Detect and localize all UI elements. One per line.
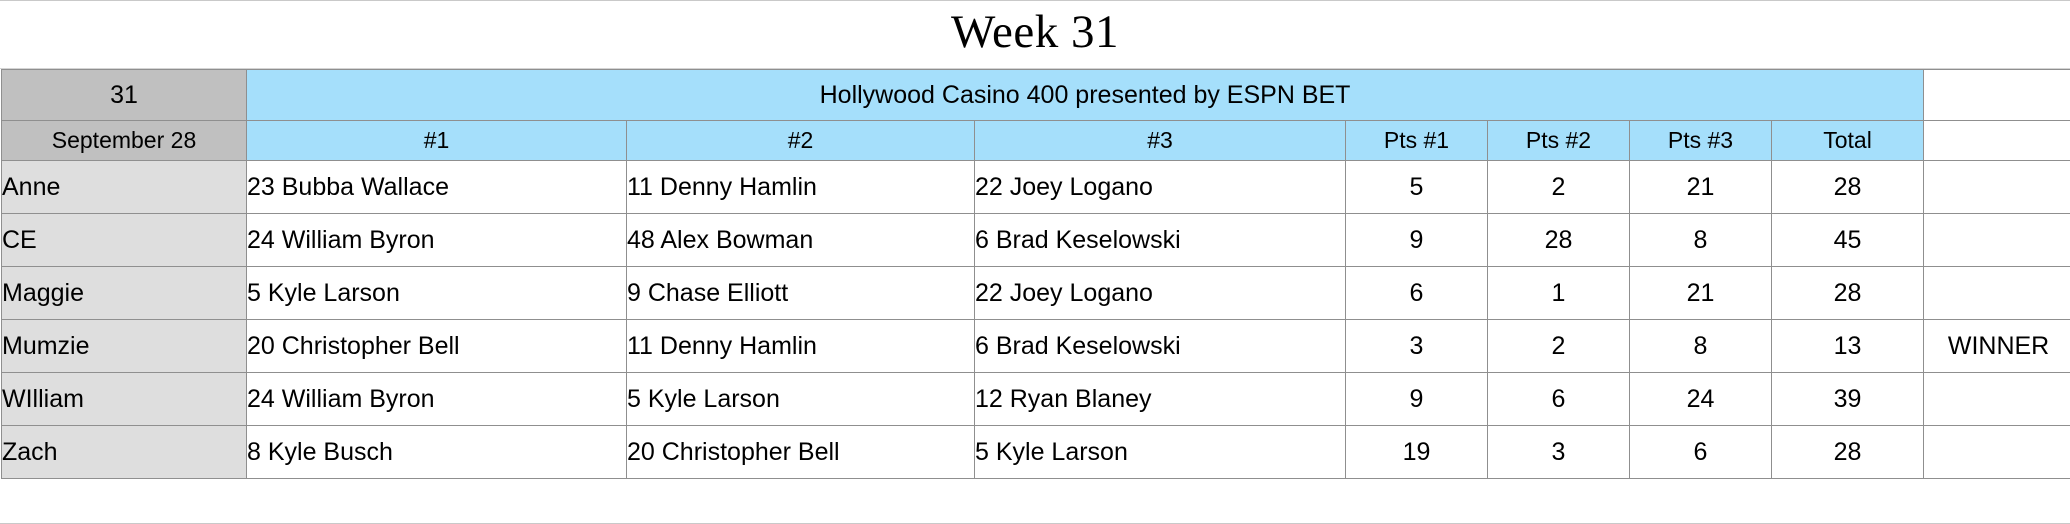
pts2-cell: 2 [1488, 161, 1630, 214]
race-date-cell: September 28 [2, 121, 247, 161]
pts2-cell: 28 [1488, 214, 1630, 267]
pick3-cell: 5 Kyle Larson [975, 426, 1346, 479]
table-row: Anne 23 Bubba Wallace 11 Denny Hamlin 22… [2, 161, 2070, 214]
column-header-total: Total [1772, 121, 1924, 161]
pts3-cell: 6 [1630, 426, 1772, 479]
total-cell: 28 [1772, 426, 1924, 479]
pick2-cell: 11 Denny Hamlin [627, 320, 975, 373]
pts3-cell: 21 [1630, 161, 1772, 214]
pick1-cell: 20 Christopher Bell [247, 320, 627, 373]
spreadsheet-view: Week 31 31 Hollywood Casino 400 presente… [0, 0, 2070, 524]
total-cell: 28 [1772, 161, 1924, 214]
pick1-cell: 24 William Byron [247, 373, 627, 426]
column-header-pick2: #2 [627, 121, 975, 161]
pts2-cell: 1 [1488, 267, 1630, 320]
table-row: Maggie 5 Kyle Larson 9 Chase Elliott 22 … [2, 267, 2070, 320]
note-cell [1924, 426, 2070, 479]
note-cell [1924, 373, 2070, 426]
pts2-cell: 3 [1488, 426, 1630, 479]
pick1-cell: 5 Kyle Larson [247, 267, 627, 320]
results-table: 31 Hollywood Casino 400 presented by ESP… [1, 69, 2070, 479]
pts2-cell: 2 [1488, 320, 1630, 373]
pts3-cell: 8 [1630, 320, 1772, 373]
player-name-cell: Maggie [2, 267, 247, 320]
table-row: Zach 8 Kyle Busch 20 Christopher Bell 5 … [2, 426, 2070, 479]
note-cell [1924, 267, 2070, 320]
column-header-note [1924, 121, 2070, 161]
pick2-cell: 48 Alex Bowman [627, 214, 975, 267]
pick2-cell: 5 Kyle Larson [627, 373, 975, 426]
pick1-cell: 23 Bubba Wallace [247, 161, 627, 214]
table-row: Mumzie 20 Christopher Bell 11 Denny Haml… [2, 320, 2070, 373]
column-header-row: September 28 #1 #2 #3 Pts #1 Pts #2 Pts … [2, 121, 2070, 161]
total-cell: 28 [1772, 267, 1924, 320]
pts1-cell: 9 [1346, 214, 1488, 267]
race-title-row: 31 Hollywood Casino 400 presented by ESP… [2, 70, 2070, 121]
note-cell [1924, 214, 2070, 267]
pick3-cell: 12 Ryan Blaney [975, 373, 1346, 426]
column-header-pick1: #1 [247, 121, 627, 161]
total-cell: 39 [1772, 373, 1924, 426]
column-header-pts2: Pts #2 [1488, 121, 1630, 161]
table-row: WIlliam 24 William Byron 5 Kyle Larson 1… [2, 373, 2070, 426]
pts3-cell: 21 [1630, 267, 1772, 320]
pick3-cell: 22 Joey Logano [975, 267, 1346, 320]
pick3-cell: 6 Brad Keselowski [975, 214, 1346, 267]
race-name-cell: Hollywood Casino 400 presented by ESPN B… [247, 70, 1924, 121]
player-name-cell: Zach [2, 426, 247, 479]
column-header-pts1: Pts #1 [1346, 121, 1488, 161]
pts3-cell: 8 [1630, 214, 1772, 267]
pts1-cell: 3 [1346, 320, 1488, 373]
pick3-cell: 22 Joey Logano [975, 161, 1346, 214]
pick2-cell: 20 Christopher Bell [627, 426, 975, 479]
table-row: CE 24 William Byron 48 Alex Bowman 6 Bra… [2, 214, 2070, 267]
pick1-cell: 24 William Byron [247, 214, 627, 267]
pick2-cell: 9 Chase Elliott [627, 267, 975, 320]
pick1-cell: 8 Kyle Busch [247, 426, 627, 479]
total-cell: 13 [1772, 320, 1924, 373]
week-number-cell: 31 [2, 70, 247, 121]
page-title-band: Week 31 [0, 1, 2070, 69]
pick3-cell: 6 Brad Keselowski [975, 320, 1346, 373]
column-header-pick3: #3 [975, 121, 1346, 161]
pts1-cell: 6 [1346, 267, 1488, 320]
winner-badge: WINNER [1924, 320, 2070, 373]
player-name-cell: CE [2, 214, 247, 267]
pts2-cell: 6 [1488, 373, 1630, 426]
page-title: Week 31 [951, 9, 1119, 60]
player-name-cell: Anne [2, 161, 247, 214]
player-name-cell: Mumzie [2, 320, 247, 373]
pts1-cell: 5 [1346, 161, 1488, 214]
pts1-cell: 9 [1346, 373, 1488, 426]
pts3-cell: 24 [1630, 373, 1772, 426]
pick2-cell: 11 Denny Hamlin [627, 161, 975, 214]
player-name-cell: WIlliam [2, 373, 247, 426]
header-spacer-cell [1924, 70, 2070, 121]
column-header-pts3: Pts #3 [1630, 121, 1772, 161]
pts1-cell: 19 [1346, 426, 1488, 479]
total-cell: 45 [1772, 214, 1924, 267]
note-cell [1924, 161, 2070, 214]
